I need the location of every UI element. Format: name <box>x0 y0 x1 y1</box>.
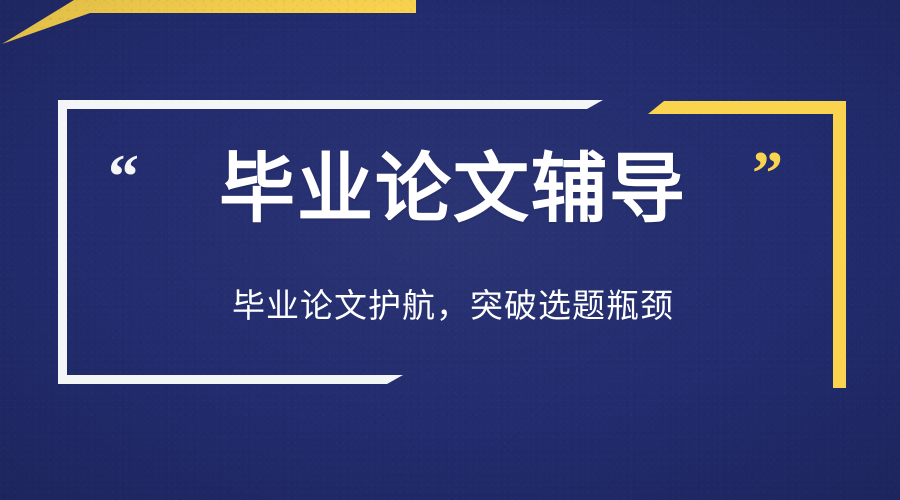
white-frame-left-edge <box>58 100 67 384</box>
banner-subtitle: 毕业论文护航，突破选题瓶颈 <box>0 289 900 322</box>
yellow-frame-top-edge <box>648 101 846 114</box>
promo-banner: “ ” 毕业论文辅导 毕业论文护航，突破选题瓶颈 <box>0 0 900 500</box>
white-frame-top-edge <box>58 100 603 109</box>
banner-title: 毕业论文辅导 <box>0 152 900 228</box>
white-frame-bottom-edge <box>58 375 403 384</box>
yellow-frame-bottom-edge-with-tail <box>0 0 416 45</box>
yellow-frame-right-edge <box>833 101 846 388</box>
background-vignette <box>0 0 900 500</box>
background-noise-texture <box>0 0 900 500</box>
speech-bubble-tail-shape <box>0 0 416 45</box>
